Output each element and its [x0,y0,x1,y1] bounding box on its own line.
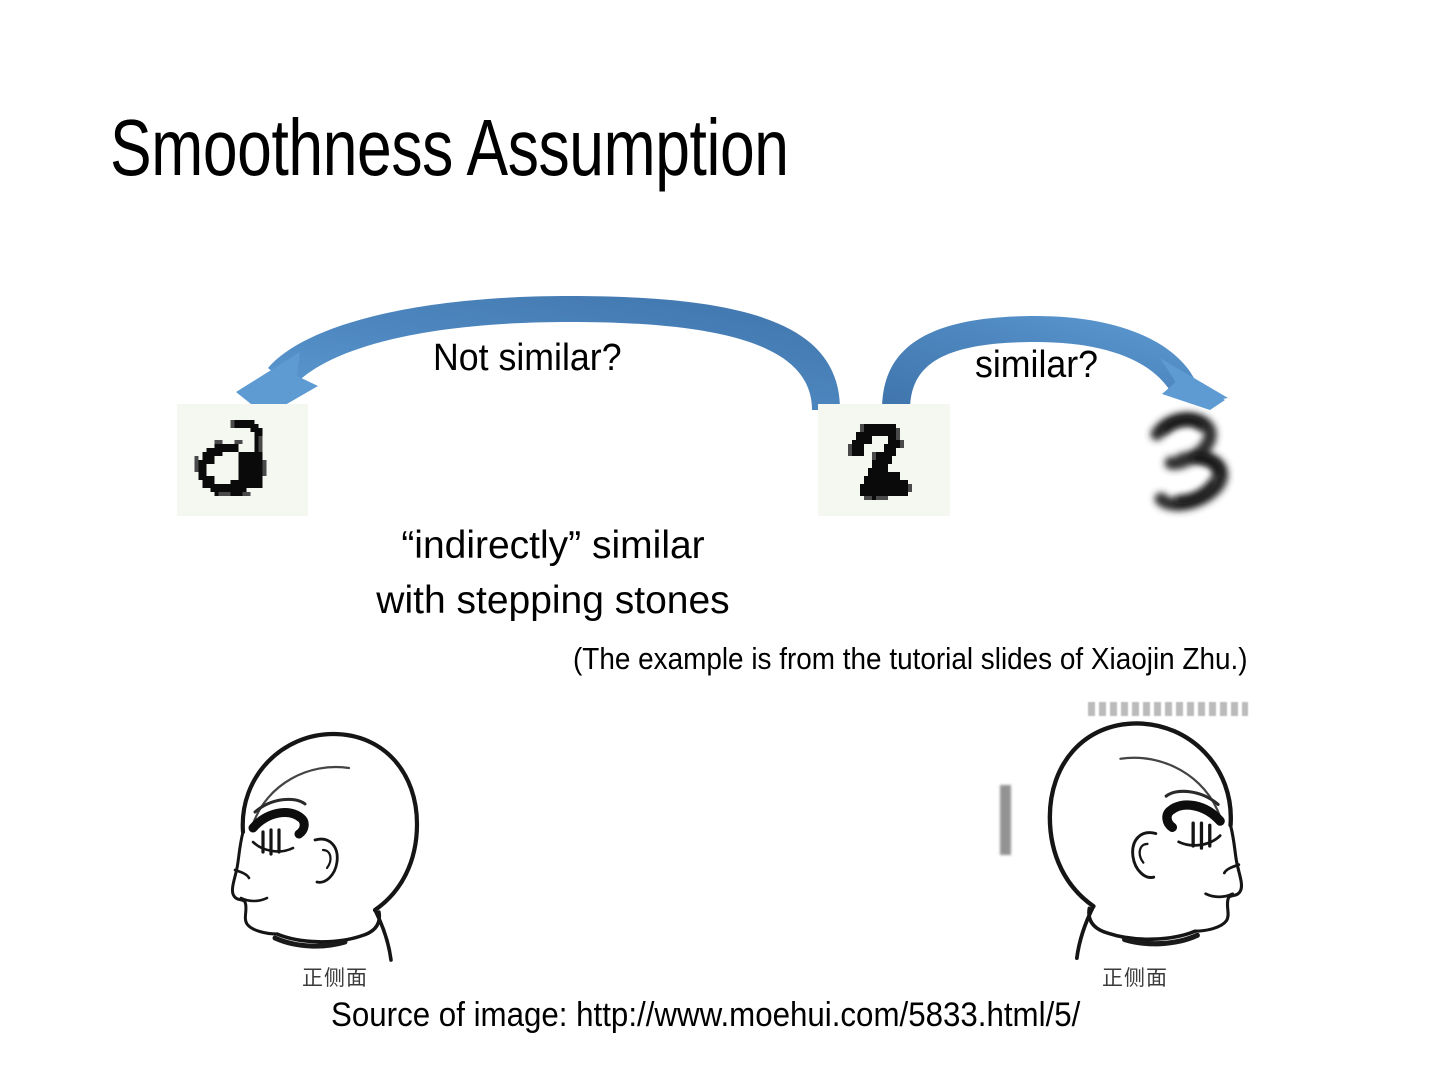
slide-canvas: Smoothness Assumption [0,0,1440,1080]
anime-head-left-drawing [205,712,465,992]
anime-head-right-drawing [1000,700,1270,992]
anime-head-profile-left: 正侧面 [205,712,465,992]
arrow-label-similar: similar? [975,344,1098,387]
face-left-caption: 正侧面 [205,962,465,992]
digit-2-looped-glyph [177,404,308,516]
digit-2-mnist-glyph [818,404,950,516]
stepping-stones-note: “indirectly” similar with stepping stone… [318,518,788,629]
digit-3-blurred-glyph [1135,404,1265,524]
digit-image-2-looped [177,404,308,516]
attribution-text: (The example is from the tutorial slides… [573,641,1248,677]
stepping-stones-line1: “indirectly” similar [318,518,788,573]
face-right-caption: 正侧面 [1000,962,1270,992]
anime-head-profile-right: 正侧面 [1000,700,1270,992]
page-title: Smoothness Assumption [110,108,789,188]
digit-image-2-mnist [818,404,950,516]
arrow-label-not-similar: Not similar? [433,337,622,380]
stepping-stones-line2: with stepping stones [318,573,788,628]
source-of-image-line: Source of image: http://www.moehui.com/5… [331,996,1080,1035]
digit-image-3-blurred [1135,404,1265,524]
